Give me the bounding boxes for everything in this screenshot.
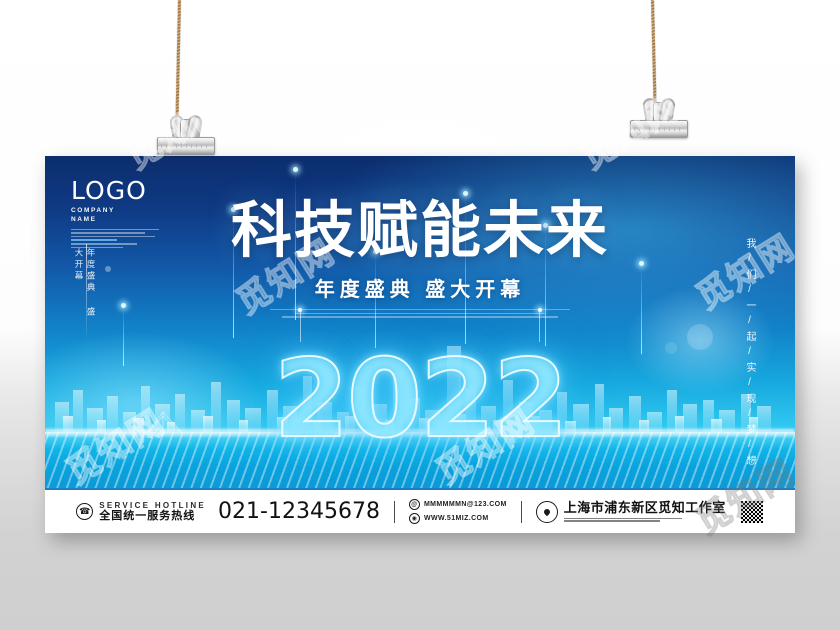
subtitle-tick-right	[539, 312, 540, 342]
hotline-group: ☎ SERVICE HOTLINE 全国统一服务热线 021-12345678	[76, 499, 380, 524]
subtitle-dot-left	[298, 308, 302, 312]
location-pin-icon	[536, 501, 558, 523]
email-text: MMMMMMN@123.COM	[424, 501, 507, 508]
hotline-label-en: SERVICE HOTLINE	[99, 501, 206, 510]
hotline-number: 021-12345678	[218, 499, 380, 524]
clip-arms-icon	[169, 115, 203, 139]
poster-artwork-background: 2022	[45, 156, 795, 490]
headline-block: 科技赋能未来 年度盛典 盛大开幕	[45, 200, 795, 320]
website-text: WWW.51MIZ.COM	[424, 515, 489, 522]
micro-english-text	[270, 309, 570, 318]
phone-icon: ☎	[76, 503, 93, 520]
binder-clip-left	[157, 115, 215, 155]
at-icon: @	[409, 499, 420, 510]
address-group: 上海市浦东新区觅知工作室	[536, 500, 726, 523]
poster-main-title: 科技赋能未来	[45, 200, 795, 261]
hotline-labels: SERVICE HOTLINE 全国统一服务热线	[99, 501, 206, 523]
year-neon-text: 2022	[45, 346, 795, 454]
clip-arms-icon	[642, 98, 676, 122]
clip-body	[157, 137, 215, 155]
website-row: ◉ WWW.51MIZ.COM	[409, 513, 507, 524]
email-row: @ MMMMMMN@123.COM	[409, 499, 507, 510]
address-text-block: 上海市浦东新区觅知工作室	[564, 500, 726, 523]
info-divider	[521, 501, 522, 523]
poster-subtitle: 年度盛典 盛大开幕	[45, 273, 795, 302]
qr-code	[740, 500, 764, 524]
subtitle-dot-right	[538, 308, 542, 312]
binder-clip-right	[630, 98, 688, 138]
info-divider	[394, 501, 395, 523]
contact-info-bar: ☎ SERVICE HOTLINE 全国统一服务热线 021-12345678 …	[45, 488, 795, 533]
address-text: 上海市浦东新区觅知工作室	[564, 500, 726, 516]
globe-icon: ◉	[409, 513, 420, 524]
poster-banner: 2022	[45, 156, 795, 533]
clip-body	[630, 120, 688, 138]
address-micro-text	[564, 518, 726, 522]
contact-group: @ MMMMMMN@123.COM ◉ WWW.51MIZ.COM	[409, 499, 507, 524]
hotline-label-cn: 全国统一服务热线	[99, 510, 206, 523]
subtitle-tick-left	[300, 312, 301, 342]
